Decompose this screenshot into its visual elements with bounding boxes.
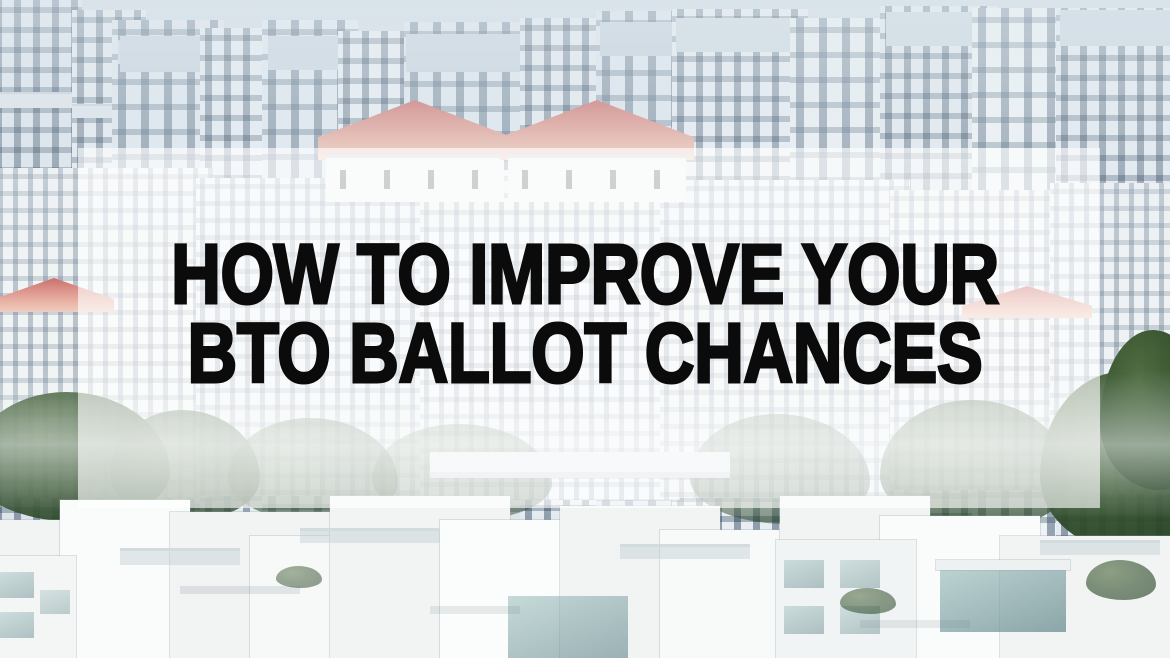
condo-balcony-glass-l3 (40, 590, 70, 614)
rooftop-structure-14 (1060, 10, 1170, 46)
poster-headline: HOW TO IMPROVE YOUR BTO BALLOT CHANCES (105, 236, 1064, 393)
glass-unit-centre (508, 596, 628, 658)
elevated-deck-shadow (430, 472, 730, 479)
rooftop-structure-7 (406, 34, 532, 72)
rooftop-planter-3 (276, 566, 322, 588)
red-roof-small-left (0, 278, 114, 312)
roof-parapet-1 (120, 548, 240, 565)
pavilion-body-right (508, 155, 686, 202)
roof-parapet-4 (1040, 540, 1160, 555)
condo-balcony-glass-l2 (0, 612, 34, 638)
glass-penthouse-frame (936, 560, 1070, 570)
roof-shadow-1 (180, 586, 300, 594)
pavilion-roof-right (500, 100, 694, 160)
red-roof-pavilion-right (500, 100, 694, 160)
roof-shadow-2 (430, 606, 520, 614)
rooftop-structure-10 (676, 18, 804, 52)
condo-balcony-glass-r2 (840, 560, 880, 588)
red-roof-pavilion-left (318, 100, 512, 160)
poster-canvas: HOW TO IMPROVE YOUR BTO BALLOT CHANCES (0, 0, 1170, 658)
condo-balcony-glass-r3 (784, 606, 824, 634)
headline-line-1: HOW TO IMPROVE YOUR (105, 236, 1064, 313)
rooftop-planter-1 (840, 588, 896, 614)
pavilion-body-left (326, 155, 504, 202)
pavilion-roof-left (318, 100, 512, 160)
headline-line-2: BTO BALLOT CHANCES (105, 315, 1064, 392)
condo-balcony-glass-l1 (0, 572, 34, 598)
tower-roof-cap-1 (0, 92, 82, 108)
roof-parapet-3 (620, 544, 750, 559)
pavilion-roof-small-left (0, 278, 114, 312)
roof-parapet-2 (300, 528, 440, 543)
condo-balcony-glass-r1 (784, 560, 824, 588)
roof-shadow-3 (860, 620, 970, 628)
